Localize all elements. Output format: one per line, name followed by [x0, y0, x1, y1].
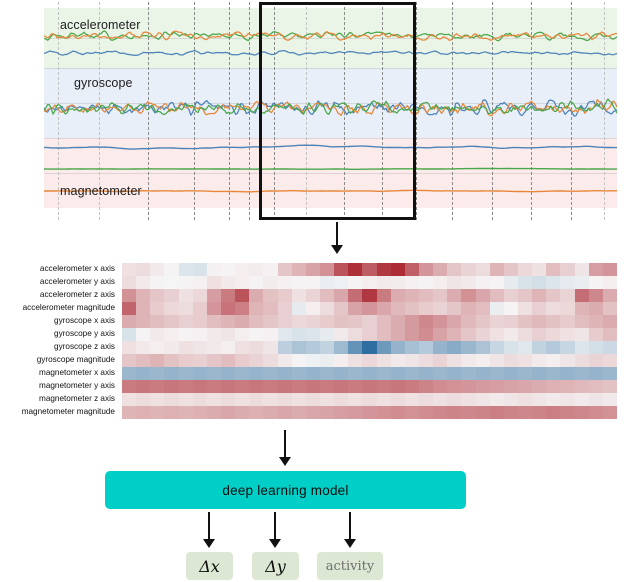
heatmap-cell [546, 302, 560, 315]
heatmap-cell [292, 393, 306, 406]
heatmap-cell [278, 302, 292, 315]
heatmap-cell [575, 289, 589, 302]
heatmap-cell [150, 328, 164, 341]
heatmap-cell [518, 367, 532, 380]
heatmap-row [122, 328, 617, 341]
heatmap-row [122, 393, 617, 406]
heatmap-row [122, 302, 617, 315]
heatmap-cell [150, 367, 164, 380]
heatmap-cell [249, 354, 263, 367]
heatmap-cell [490, 341, 504, 354]
heatmap-cell [476, 406, 490, 419]
heatmap-cell [504, 328, 518, 341]
heatmap-row-label: gyroscope magnitude [0, 354, 118, 367]
heatmap-cell [560, 380, 574, 393]
heatmap-cell [235, 367, 249, 380]
heatmap-cell [560, 328, 574, 341]
heatmap-cell [150, 380, 164, 393]
heatmap-cell [136, 354, 150, 367]
plot-label-magnetometer: magnetometer [60, 184, 142, 198]
heatmap-cell [292, 263, 306, 276]
heatmap-cell [476, 380, 490, 393]
heatmap-cell [575, 302, 589, 315]
heatmap-cell [292, 276, 306, 289]
heatmap-cell [221, 276, 235, 289]
heatmap-cell [164, 341, 178, 354]
heatmap-cell [348, 263, 362, 276]
heatmap-cell [292, 354, 306, 367]
heatmap-cell [235, 276, 249, 289]
heatmap-cell [306, 341, 320, 354]
heatmap-cell [518, 406, 532, 419]
heatmap-cell [518, 393, 532, 406]
heatmap-cell [405, 341, 419, 354]
window-selection-rectangle[interactable] [259, 2, 416, 220]
heatmap-cell [122, 367, 136, 380]
output-box-delta-y[interactable]: Δy [252, 552, 299, 580]
heatmap-cell [235, 393, 249, 406]
heatmap-cell [490, 276, 504, 289]
heatmap-cell [164, 354, 178, 367]
heatmap-cell [419, 276, 433, 289]
heatmap-cell [377, 367, 391, 380]
heatmap-cell [320, 302, 334, 315]
heatmap-row-labels: accelerometer x axisaccelerometer y axis… [0, 263, 118, 419]
heatmap-cell [306, 315, 320, 328]
heatmap-row [122, 289, 617, 302]
heatmap-cell [560, 367, 574, 380]
heatmap-cell [278, 380, 292, 393]
heatmap-cell [419, 341, 433, 354]
heatmap-cell [490, 328, 504, 341]
heatmap-row-label: magnetometer x axis [0, 367, 118, 380]
heatmap-cell [320, 315, 334, 328]
heatmap-cell [207, 328, 221, 341]
heatmap-cell [292, 406, 306, 419]
heatmap-cell [603, 393, 617, 406]
heatmap-cell [136, 341, 150, 354]
heatmap-cell [391, 289, 405, 302]
heatmap-cell [546, 393, 560, 406]
heatmap-cell [179, 289, 193, 302]
heatmap-cell [334, 289, 348, 302]
heatmap-cell [235, 354, 249, 367]
heatmap-cell [589, 393, 603, 406]
heatmap-cell [164, 276, 178, 289]
heatmap-cell [433, 328, 447, 341]
heatmap-cell [320, 276, 334, 289]
heatmap-cell [193, 315, 207, 328]
heatmap-cell [476, 393, 490, 406]
heatmap-cell [589, 263, 603, 276]
heatmap-cell [249, 393, 263, 406]
heatmap-cell [391, 380, 405, 393]
heatmap-cell [334, 328, 348, 341]
heatmap-cell [377, 341, 391, 354]
heatmap-row [122, 354, 617, 367]
heatmap-cell [575, 406, 589, 419]
heatmap-cell [391, 276, 405, 289]
heatmap-cell [207, 380, 221, 393]
heatmap-cell [263, 276, 277, 289]
heatmap-cell [405, 406, 419, 419]
heatmap-cell [546, 276, 560, 289]
output-label-delta-x: Δx [199, 557, 220, 576]
heatmap-cell [433, 367, 447, 380]
heatmap-cell [179, 341, 193, 354]
heatmap-cell [518, 341, 532, 354]
heatmap-cell [575, 341, 589, 354]
heatmap-cell [405, 328, 419, 341]
heatmap-cell [575, 315, 589, 328]
heatmap-cell [560, 276, 574, 289]
heatmap-cell [391, 341, 405, 354]
heatmap-cell [447, 380, 461, 393]
heatmap-cell [419, 380, 433, 393]
heatmap-cell [136, 263, 150, 276]
heatmap-cell [447, 276, 461, 289]
output-box-activity[interactable]: activity [317, 552, 383, 580]
heatmap-cell [560, 393, 574, 406]
heatmap-cell [320, 341, 334, 354]
heatmap-cell [419, 406, 433, 419]
heatmap-cell [391, 263, 405, 276]
heatmap-cell [461, 393, 475, 406]
heatmap-cell [320, 393, 334, 406]
heatmap-cell [518, 302, 532, 315]
heatmap-cell [532, 289, 546, 302]
heatmap-row-label: magnetometer magnitude [0, 406, 118, 419]
heatmap-cell [532, 263, 546, 276]
heatmap-row [122, 263, 617, 276]
heatmap-cell [603, 289, 617, 302]
heatmap-cell [532, 367, 546, 380]
heatmap-cell [136, 393, 150, 406]
heatmap-cell [589, 341, 603, 354]
heatmap-cell [603, 302, 617, 315]
heatmap-cell [320, 367, 334, 380]
heatmap-cell [377, 302, 391, 315]
heatmap-row [122, 276, 617, 289]
heatmap-cell [348, 328, 362, 341]
heatmap-cell [193, 354, 207, 367]
heatmap-cell [348, 380, 362, 393]
heatmap-cell [320, 328, 334, 341]
heatmap-cell [362, 328, 376, 341]
heatmap-cell [235, 328, 249, 341]
heatmap-cell [532, 315, 546, 328]
heatmap-cell [461, 289, 475, 302]
heatmap-cell [532, 380, 546, 393]
heatmap-cell [447, 315, 461, 328]
heatmap-cell [122, 302, 136, 315]
heatmap-cell [348, 289, 362, 302]
heatmap-cell [249, 380, 263, 393]
heatmap-cell [348, 276, 362, 289]
heatmap-cell [405, 380, 419, 393]
heatmap-cell [179, 380, 193, 393]
heatmap-cell [433, 276, 447, 289]
heatmap-cell [263, 315, 277, 328]
heatmap-cell [221, 367, 235, 380]
heatmap-cell [603, 315, 617, 328]
heatmap-cell [334, 380, 348, 393]
heatmap-cell [278, 315, 292, 328]
heatmap-cell [546, 341, 560, 354]
heatmap-cell [221, 380, 235, 393]
heatmap-cell [179, 276, 193, 289]
heatmap-cell [122, 341, 136, 354]
arrow-model-to-delta-x [203, 512, 215, 548]
heatmap-cell [476, 341, 490, 354]
heatmap-cell [221, 393, 235, 406]
heatmap-cell [164, 380, 178, 393]
heatmap-cell [207, 393, 221, 406]
heatmap-cell [476, 263, 490, 276]
heatmap-cell [532, 328, 546, 341]
heatmap-cell [150, 302, 164, 315]
heatmap-cell [405, 276, 419, 289]
heatmap-cell [518, 315, 532, 328]
heatmap-cell [136, 276, 150, 289]
heatmap-row-label: gyroscope y axis [0, 328, 118, 341]
model-label: deep learning model [222, 483, 348, 498]
heatmap-cell [207, 276, 221, 289]
heatmap-cell [207, 341, 221, 354]
arrow-heatmap-to-model [279, 430, 291, 466]
heatmap-cell [377, 380, 391, 393]
heatmap-cell [122, 276, 136, 289]
heatmap-cell [292, 289, 306, 302]
heatmap-cell [348, 341, 362, 354]
heatmap-cell [405, 354, 419, 367]
heatmap-cell [136, 380, 150, 393]
heatmap-cell [419, 289, 433, 302]
heatmap-cell [164, 289, 178, 302]
heatmap-cell [546, 328, 560, 341]
heatmap-cell [136, 406, 150, 419]
heatmap-cell [461, 263, 475, 276]
heatmap-cell [207, 354, 221, 367]
heatmap-cell [405, 367, 419, 380]
heatmap-cell [207, 302, 221, 315]
heatmap-cell [490, 393, 504, 406]
heatmap-cell [589, 406, 603, 419]
heatmap-cell [263, 302, 277, 315]
heatmap-cell [249, 276, 263, 289]
heatmap-cell [504, 367, 518, 380]
heatmap-grid [122, 263, 617, 419]
heatmap-cell [490, 315, 504, 328]
deep-learning-model-box[interactable]: deep learning model [105, 471, 466, 509]
heatmap-cell [306, 380, 320, 393]
heatmap-cell [179, 263, 193, 276]
heatmap-cell [546, 367, 560, 380]
heatmap-cell [122, 354, 136, 367]
heatmap-cell [419, 328, 433, 341]
heatmap-cell [603, 354, 617, 367]
arrow-model-to-activity [344, 512, 356, 548]
heatmap-cell [447, 406, 461, 419]
heatmap-cell [532, 393, 546, 406]
heatmap-cell [122, 380, 136, 393]
heatmap-cell [362, 302, 376, 315]
heatmap-cell [546, 406, 560, 419]
heatmap-cell [292, 302, 306, 315]
heatmap-cell [560, 302, 574, 315]
heatmap-cell [193, 263, 207, 276]
heatmap-cell [193, 393, 207, 406]
heatmap-cell [575, 354, 589, 367]
heatmap-cell [589, 380, 603, 393]
heatmap-cell [546, 315, 560, 328]
heatmap-cell [164, 315, 178, 328]
plot-label-gyroscope: gyroscope [74, 76, 133, 90]
heatmap-cell [164, 367, 178, 380]
heatmap-cell [235, 289, 249, 302]
heatmap-cell [221, 406, 235, 419]
heatmap-cell [292, 367, 306, 380]
heatmap-cell [249, 406, 263, 419]
heatmap-cell [278, 263, 292, 276]
heatmap-cell [306, 393, 320, 406]
feature-heatmap: accelerometer x axisaccelerometer y axis… [0, 258, 640, 423]
heatmap-row-label: accelerometer x axis [0, 263, 118, 276]
heatmap-cell [150, 289, 164, 302]
heatmap-cell [263, 380, 277, 393]
arrow-model-to-delta-y [269, 512, 281, 548]
heatmap-cell [391, 406, 405, 419]
heatmap-cell [377, 393, 391, 406]
heatmap-cell [150, 276, 164, 289]
heatmap-cell [362, 341, 376, 354]
heatmap-cell [560, 263, 574, 276]
heatmap-cell [532, 341, 546, 354]
heatmap-cell [221, 354, 235, 367]
heatmap-cell [362, 263, 376, 276]
heatmap-cell [490, 263, 504, 276]
heatmap-cell [207, 367, 221, 380]
heatmap-cell [575, 328, 589, 341]
heatmap-cell [461, 276, 475, 289]
heatmap-cell [193, 328, 207, 341]
heatmap-cell [391, 302, 405, 315]
heatmap-cell [207, 263, 221, 276]
heatmap-cell [263, 289, 277, 302]
heatmap-cell [249, 315, 263, 328]
heatmap-cell [419, 315, 433, 328]
heatmap-cell [433, 341, 447, 354]
heatmap-cell [164, 302, 178, 315]
heatmap-row [122, 406, 617, 419]
heatmap-cell [504, 276, 518, 289]
heatmap-cell [164, 328, 178, 341]
heatmap-cell [433, 289, 447, 302]
heatmap-cell [518, 276, 532, 289]
heatmap-cell [179, 328, 193, 341]
heatmap-cell [560, 406, 574, 419]
heatmap-cell [377, 328, 391, 341]
heatmap-cell [136, 289, 150, 302]
heatmap-cell [362, 393, 376, 406]
heatmap-cell [461, 341, 475, 354]
heatmap-cell [334, 276, 348, 289]
heatmap-cell [179, 393, 193, 406]
heatmap-cell [136, 328, 150, 341]
heatmap-cell [447, 341, 461, 354]
heatmap-cell [504, 341, 518, 354]
heatmap-cell [235, 263, 249, 276]
heatmap-cell [235, 302, 249, 315]
heatmap-cell [362, 315, 376, 328]
heatmap-row [122, 341, 617, 354]
heatmap-cell [447, 367, 461, 380]
heatmap-cell [249, 367, 263, 380]
heatmap-row [122, 367, 617, 380]
heatmap-cell [589, 289, 603, 302]
heatmap-cell [334, 263, 348, 276]
heatmap-cell [560, 341, 574, 354]
heatmap-cell [263, 328, 277, 341]
heatmap-cell [461, 354, 475, 367]
heatmap-cell [221, 302, 235, 315]
heatmap-cell [306, 406, 320, 419]
heatmap-cell [122, 328, 136, 341]
heatmap-cell [476, 367, 490, 380]
heatmap-cell [320, 289, 334, 302]
heatmap-cell [377, 354, 391, 367]
heatmap-cell [292, 328, 306, 341]
heatmap-cell [362, 276, 376, 289]
heatmap-cell [320, 406, 334, 419]
heatmap-cell [504, 354, 518, 367]
heatmap-cell [405, 302, 419, 315]
heatmap-cell [334, 315, 348, 328]
heatmap-cell [249, 302, 263, 315]
heatmap-cell [490, 380, 504, 393]
heatmap-cell [306, 328, 320, 341]
heatmap-cell [306, 289, 320, 302]
heatmap-cell [278, 393, 292, 406]
heatmap-cell [391, 354, 405, 367]
heatmap-cell [419, 354, 433, 367]
heatmap-cell [419, 367, 433, 380]
output-box-delta-x[interactable]: Δx [186, 552, 233, 580]
heatmap-cell [589, 315, 603, 328]
heatmap-cell [320, 354, 334, 367]
heatmap-cell [589, 328, 603, 341]
heatmap-cell [447, 263, 461, 276]
heatmap-cell [278, 367, 292, 380]
heatmap-cell [249, 328, 263, 341]
heatmap-row-label: gyroscope x axis [0, 315, 118, 328]
heatmap-row-label: magnetometer z axis [0, 393, 118, 406]
heatmap-cell [560, 315, 574, 328]
heatmap-cell [532, 302, 546, 315]
heatmap-cell [179, 354, 193, 367]
heatmap-cell [334, 341, 348, 354]
heatmap-cell [504, 302, 518, 315]
heatmap-cell [532, 406, 546, 419]
heatmap-cell [504, 263, 518, 276]
heatmap-cell [419, 263, 433, 276]
heatmap-cell [334, 354, 348, 367]
heatmap-cell [278, 276, 292, 289]
heatmap-cell [603, 406, 617, 419]
heatmap-cell [193, 289, 207, 302]
heatmap-row-label: accelerometer z axis [0, 289, 118, 302]
heatmap-cell [235, 315, 249, 328]
